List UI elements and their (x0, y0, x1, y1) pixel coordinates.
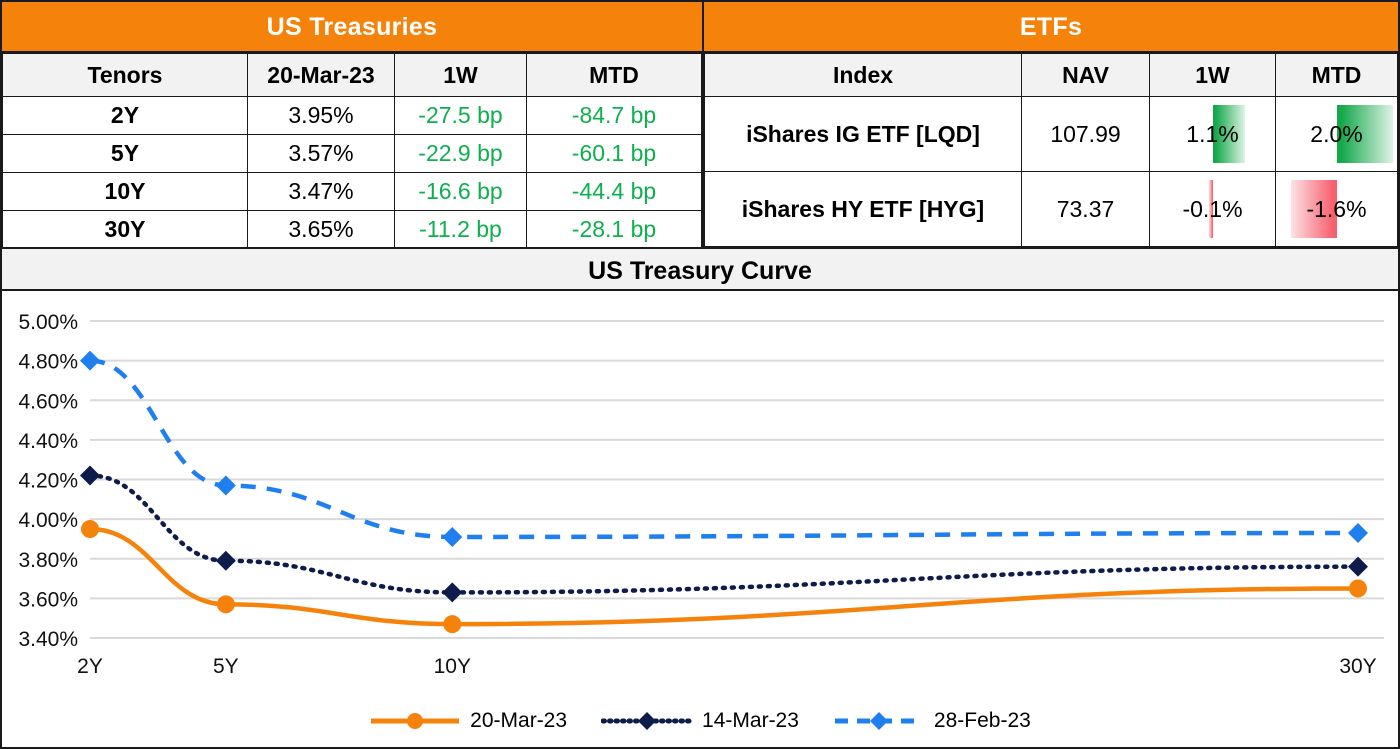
cell-tenor: 30Y (3, 211, 248, 249)
table-row: 2Y 3.95% -27.5 bp -84.7 bp (3, 97, 702, 135)
cell-nav: 107.99 (1022, 97, 1150, 172)
data-point-marker (217, 595, 235, 613)
us-treasuries-title: US Treasuries (2, 2, 702, 53)
legend-label: 28-Feb-23 (934, 709, 1031, 733)
cell-1w-value: -0.1% (1182, 196, 1242, 222)
table-row: 10Y 3.47% -16.6 bp -44.4 bp (3, 173, 702, 211)
us-treasuries-panel: US Treasuries Tenors 20-Mar-23 1W MTD 2Y… (2, 2, 704, 247)
y-axis-tick-label: 4.20% (18, 470, 78, 493)
y-axis-tick-label: 4.60% (18, 390, 78, 413)
x-axis-tick-labels: 2Y5Y10Y30Y (77, 655, 1377, 678)
table-header-row: Tenors 20-Mar-23 1W MTD (3, 54, 702, 97)
cell-mtd: -44.4 bp (527, 173, 702, 211)
cell-1w: -22.9 bp (395, 135, 527, 173)
y-axis-tick-label: 5.00% (18, 311, 78, 334)
cell-index-name: iShares IG ETF [LQD] (705, 97, 1022, 172)
cell-level: 3.95% (248, 97, 395, 135)
cell-1w: -27.5 bp (395, 97, 527, 135)
cell-1w: -0.1% (1150, 172, 1276, 247)
column-header-1w: 1W (395, 54, 527, 97)
cell-1w: -11.2 bp (395, 211, 527, 249)
column-header-index: Index (705, 54, 1022, 97)
x-axis-tick-label: 5Y (213, 655, 239, 678)
series-line-20-mar-23 (90, 529, 1358, 624)
data-point-marker (1349, 579, 1367, 597)
cell-1w: 1.1% (1150, 97, 1276, 172)
table-row: iShares HY ETF [HYG] 73.37 -0.1% -1.6% (705, 172, 1398, 247)
y-axis-tick-label: 4.00% (18, 509, 78, 532)
y-axis-tick-label: 3.80% (18, 549, 78, 572)
chart-plot-area: 3.40%3.60%3.80%4.00%4.20%4.40%4.60%4.80%… (2, 291, 1398, 691)
cell-tenor: 2Y (3, 97, 248, 135)
cell-1w-value: 1.1% (1186, 121, 1238, 147)
chart-legend: 20-Mar-23 14-Mar-23 28-Feb-23 (2, 701, 1398, 741)
chart-title: US Treasury Curve (2, 247, 1398, 291)
table-header-row: Index NAV 1W MTD (705, 54, 1398, 97)
legend-item-20-mar-23: 20-Mar-23 (369, 709, 567, 733)
cell-tenor: 10Y (3, 173, 248, 211)
column-header-1w: 1W (1150, 54, 1276, 97)
data-point-marker (442, 527, 462, 547)
y-axis-tick-label: 4.80% (18, 351, 78, 374)
column-header-level: 20-Mar-23 (248, 54, 395, 97)
data-point-marker (442, 582, 462, 602)
data-point-marker (216, 475, 236, 495)
data-point-marker (1348, 523, 1368, 543)
table-row: 5Y 3.57% -22.9 bp -60.1 bp (3, 135, 702, 173)
column-header-mtd: MTD (527, 54, 702, 97)
legend-key-dashed-diamond-icon (833, 711, 925, 731)
us-treasuries-table: Tenors 20-Mar-23 1W MTD 2Y 3.95% -27.5 b… (2, 53, 702, 249)
top-tables: US Treasuries Tenors 20-Mar-23 1W MTD 2Y… (2, 2, 1398, 247)
etfs-panel: ETFs Index NAV 1W MTD iShares IG ETF [LQ… (704, 2, 1398, 247)
legend-key-dotted-diamond-icon (601, 711, 693, 731)
cell-mtd: -1.6% (1276, 172, 1398, 247)
y-axis-tick-label: 4.40% (18, 430, 78, 453)
cell-mtd-value: -1.6% (1306, 196, 1366, 222)
cell-level: 3.47% (248, 173, 395, 211)
column-header-tenors: Tenors (3, 54, 248, 97)
x-axis-tick-label: 30Y (1339, 655, 1376, 678)
cell-level: 3.57% (248, 135, 395, 173)
dashboard-page: US Treasuries Tenors 20-Mar-23 1W MTD 2Y… (0, 0, 1400, 749)
legend-label: 14-Mar-23 (702, 709, 799, 733)
x-axis-tick-label: 2Y (77, 655, 103, 678)
data-point-marker (216, 551, 236, 571)
x-axis-tick-label: 10Y (434, 655, 471, 678)
cell-1w: -16.6 bp (395, 173, 527, 211)
cell-mtd: -60.1 bp (527, 135, 702, 173)
data-point-marker (443, 615, 461, 633)
cell-level: 3.65% (248, 211, 395, 249)
etfs-table: Index NAV 1W MTD iShares IG ETF [LQD] 10… (704, 53, 1398, 247)
data-point-marker (80, 351, 100, 371)
column-header-mtd: MTD (1276, 54, 1398, 97)
us-treasury-curve-chart: 3.40%3.60%3.80%4.00%4.20%4.40%4.60%4.80%… (2, 291, 1398, 747)
data-point-marker (81, 520, 99, 538)
y-axis-tick-labels: 3.40%3.60%3.80%4.00%4.20%4.40%4.60%4.80%… (18, 311, 78, 651)
data-point-marker (80, 466, 100, 486)
series-line-28-feb-23 (90, 361, 1358, 537)
legend-label: 20-Mar-23 (470, 709, 567, 733)
cell-mtd: -28.1 bp (527, 211, 702, 249)
cell-mtd-value: 2.0% (1310, 121, 1362, 147)
etfs-title: ETFs (704, 2, 1398, 53)
cell-mtd: -84.7 bp (527, 97, 702, 135)
y-axis-tick-label: 3.40% (18, 628, 78, 651)
cell-tenor: 5Y (3, 135, 248, 173)
column-header-nav: NAV (1022, 54, 1150, 97)
table-row: 30Y 3.65% -11.2 bp -28.1 bp (3, 211, 702, 249)
cell-nav: 73.37 (1022, 172, 1150, 247)
cell-index-name: iShares HY ETF [HYG] (705, 172, 1022, 247)
legend-item-28-feb-23: 28-Feb-23 (833, 709, 1031, 733)
legend-item-14-mar-23: 14-Mar-23 (601, 709, 799, 733)
table-row: iShares IG ETF [LQD] 107.99 1.1% 2.0% (705, 97, 1398, 172)
y-axis-tick-label: 3.60% (18, 588, 78, 611)
cell-mtd: 2.0% (1276, 97, 1398, 172)
legend-key-solid-circle-icon (369, 711, 461, 731)
